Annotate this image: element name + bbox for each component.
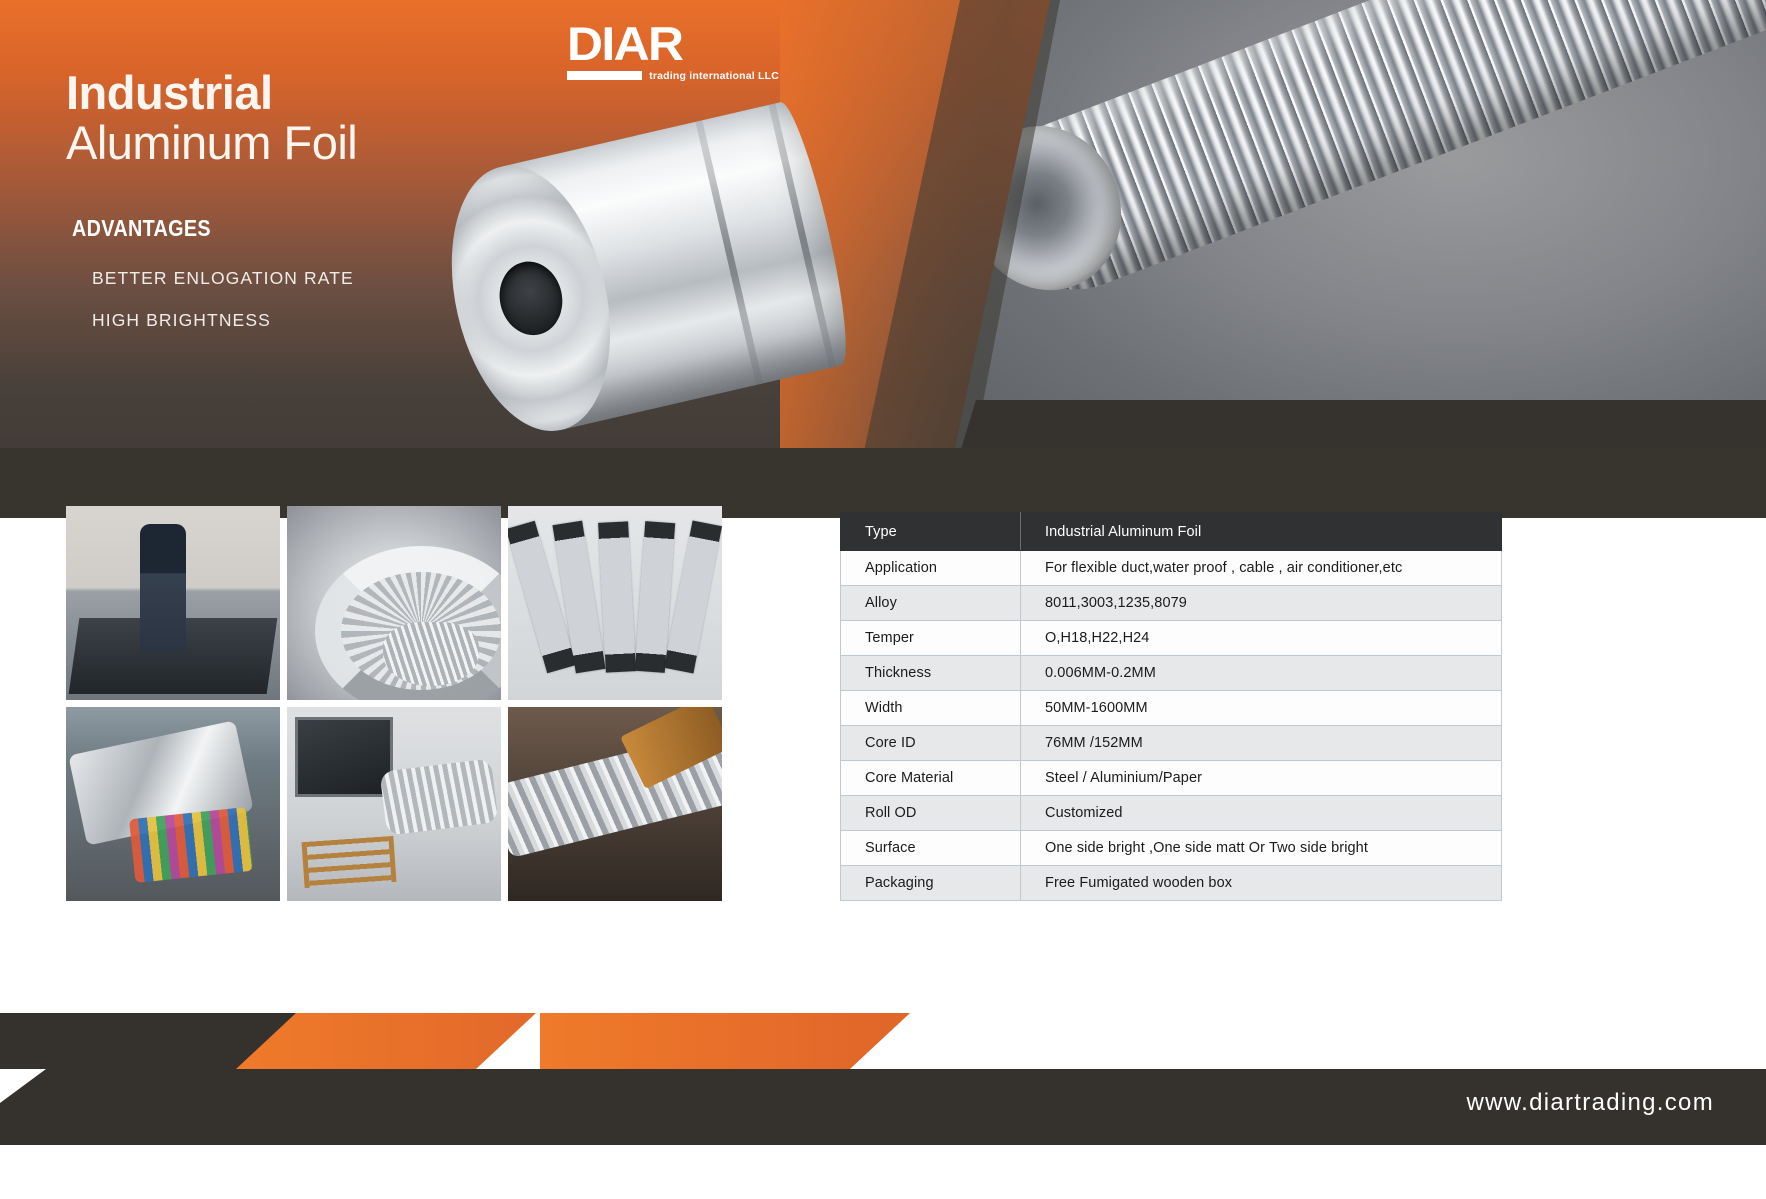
product-photo-gallery (66, 506, 738, 901)
table-row: Core ID 76MM /152MM (841, 726, 1502, 761)
logo-tagline-row: trading international LLC (567, 70, 779, 82)
advantage-item: BETTER ENLOGATION RATE (92, 268, 354, 289)
table-header-key: Type (841, 513, 1021, 551)
spec-value: One side bright ,One side matt Or Two si… (1021, 831, 1502, 866)
table-header-value: Industrial Aluminum Foil (1021, 513, 1502, 551)
gallery-photo-worker-rolling-foil-sheet (66, 506, 280, 700)
gallery-photo-foil-wrapped-cable-bundle (66, 707, 280, 901)
specifications-table: Type Industrial Aluminum Foil Applicatio… (840, 512, 1502, 901)
advantage-item: HIGH BRIGHTNESS (92, 310, 354, 331)
spec-key: Application (841, 551, 1021, 586)
title-line-1: Industrial (66, 68, 357, 118)
gallery-photo-silver-flexible-duct-coil (287, 506, 501, 700)
website-url[interactable]: www.diartrading.com (1467, 1089, 1714, 1117)
spec-key: Width (841, 691, 1021, 726)
spec-key: Temper (841, 621, 1021, 656)
spec-value: Customized (1021, 796, 1502, 831)
table-row: Temper O,H18,H22,H24 (841, 621, 1502, 656)
table-row: Thickness 0.006MM-0.2MM (841, 656, 1502, 691)
advantages-list: BETTER ENLOGATION RATE HIGH BRIGHTNESS (92, 268, 354, 352)
table-row: Packaging Free Fumigated wooden box (841, 866, 1502, 901)
table-row: Alloy 8011,3003,1235,8079 (841, 586, 1502, 621)
table-header-row: Type Industrial Aluminum Foil (841, 513, 1502, 551)
advantages-heading: ADVANTAGES (72, 215, 211, 242)
foil-strip (598, 521, 636, 672)
spec-key: Alloy (841, 586, 1021, 621)
spec-value: Free Fumigated wooden box (1021, 866, 1502, 901)
specifications-table-body: Type Industrial Aluminum Foil Applicatio… (841, 513, 1502, 901)
spec-value: 8011,3003,1235,8079 (1021, 586, 1502, 621)
table-row: Application For flexible duct,water proo… (841, 551, 1502, 586)
gallery-photo-foil-wrapped-pipe-outdoor (508, 707, 722, 901)
spec-value: O,H18,H22,H24 (1021, 621, 1502, 656)
spec-key: Core Material (841, 761, 1021, 796)
hero-banner: Industrial Aluminum Foil ADVANTAGES BETT… (0, 0, 1766, 518)
gallery-photo-air-conditioner-duct-install (287, 707, 501, 901)
spec-value: Steel / Aluminium/Paper (1021, 761, 1502, 796)
hero-photo-flexible-duct (955, 0, 1766, 448)
spec-value: 0.006MM-0.2MM (1021, 656, 1502, 691)
footer-orange-chevron-2 (540, 1013, 910, 1069)
logo-bar-icon (567, 71, 642, 80)
table-row: Roll OD Customized (841, 796, 1502, 831)
logo-wordmark: DIAR (567, 22, 792, 67)
table-row: Core Material Steel / Aluminium/Paper (841, 761, 1502, 796)
coil-seam (769, 103, 837, 368)
product-datasheet-page: Industrial Aluminum Foil ADVANTAGES BETT… (0, 0, 1766, 1199)
page-footer: www.diartrading.com (0, 1005, 1766, 1199)
ladder-shape (302, 836, 397, 888)
spec-key: Thickness (841, 656, 1021, 691)
spec-key: Roll OD (841, 796, 1021, 831)
company-logo: DIAR trading international LLC (567, 22, 779, 82)
spec-value: For flexible duct,water proof , cable , … (1021, 551, 1502, 586)
page-title: Industrial Aluminum Foil (66, 68, 357, 168)
logo-tagline: trading international LLC (649, 70, 779, 82)
table-row: Surface One side bright ,One side matt O… (841, 831, 1502, 866)
spec-key: Packaging (841, 866, 1021, 901)
spec-key: Core ID (841, 726, 1021, 761)
coil-seam (695, 120, 763, 385)
spec-value: 50MM-1600MM (1021, 691, 1502, 726)
title-line-2: Aluminum Foil (66, 118, 357, 168)
table-row: Width 50MM-1600MM (841, 691, 1502, 726)
spec-key: Surface (841, 831, 1021, 866)
gallery-photo-foil-duct-strips-fanned (508, 506, 722, 700)
spec-value: 76MM /152MM (1021, 726, 1502, 761)
